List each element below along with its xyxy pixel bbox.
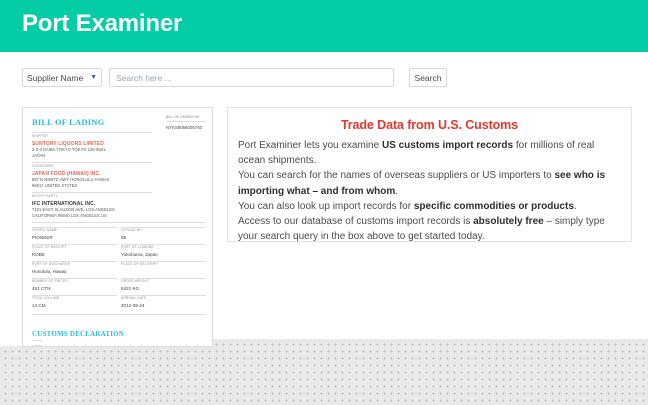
search-input-placeholder: Search here ...: [116, 73, 172, 83]
field-value-6: 491 CTN: [32, 286, 50, 291]
shipper-address: 2-3-3 DAIBA TOKYO TOKYO 135-8631, JAPAN: [32, 147, 107, 159]
field-label-0: VESSEL NAME: [32, 228, 57, 232]
divider: [32, 162, 152, 163]
bill-of-lading-card[interactable]: BILL OF LADING BILL OF LADING NO. NYKS80…: [22, 107, 213, 347]
divider: [32, 132, 152, 133]
divider: [32, 314, 206, 315]
field-label-7: GROSS WEIGHT: [121, 279, 149, 283]
bill-of-lading-title: BILL OF LADING: [32, 117, 104, 127]
divider: [32, 222, 206, 223]
search-bar: Supplier Name ▼ Search here ... Search: [22, 68, 447, 87]
bill-of-lading-no-value: NYKS80660057​60: [166, 125, 202, 130]
consignee-address: 887 N NIMITZ HWY HONOLULU HAWAII 96817 U…: [32, 177, 109, 189]
info-paragraph-4: Access to our database of customs import…: [238, 214, 621, 244]
field-value-9: 2012-09-24: [121, 303, 145, 308]
field-label-8: TOTAL VOLUME: [32, 296, 59, 300]
divider: [166, 121, 206, 122]
field-label-6: NUMBER OF PIECES: [32, 279, 68, 283]
info-panel-title: Trade Data from U.S. Customs: [238, 118, 621, 132]
notify-party-label: NOTIFY PARTY: [32, 194, 58, 198]
notify-party-address: 7101 EAST SLAUSON AVE, LOS ANGELES CALIF…: [32, 207, 115, 219]
field-value-4: Honolulu, Hawaii: [32, 269, 66, 274]
field-value-3: Yokohama, Japan: [121, 252, 158, 257]
field-value-1: 5E: [121, 235, 127, 240]
site-header: Port Examiner: [0, 0, 648, 52]
search-input[interactable]: Search here ...: [109, 68, 394, 87]
search-type-select[interactable]: Supplier Name ▼: [22, 68, 102, 87]
consignee-label: CONSIGNEE: [32, 164, 53, 168]
divider: [32, 345, 42, 346]
chevron-down-icon: ▼: [90, 74, 97, 81]
bill-of-lading-inner: BILL OF LADING BILL OF LADING NO. NYKS80…: [23, 108, 212, 346]
shipper-label: SHIPPER: [32, 134, 48, 138]
info-paragraph-1: Port Examiner lets you examine US custom…: [238, 138, 621, 168]
search-button[interactable]: Search: [409, 68, 447, 87]
info-panel: Trade Data from U.S. Customs Port Examin…: [227, 107, 632, 242]
field-label-2: PLACE OF RECEIPT: [32, 245, 66, 249]
page-root: Port Examiner Supplier Name ▼ Search her…: [0, 0, 648, 405]
field-label-9: ARRIVAL DATE: [121, 296, 146, 300]
field-value-8: 14 CM: [32, 303, 46, 308]
field-value-2: KOBE: [32, 252, 45, 257]
divider: [32, 192, 152, 193]
field-value-7: 6421 KG: [121, 286, 139, 291]
field-label-3: PORT OF LOADING: [121, 245, 154, 249]
field-label-5: PLACE OF DELIVERY: [121, 262, 158, 266]
customs-declaration-title: CUSTOMS DECLARATION: [32, 330, 124, 338]
info-paragraph-2: You can search for the names of overseas…: [238, 168, 621, 198]
field-label-1: VOYAGE NO.: [121, 228, 143, 232]
bill-of-lading-no-label: BILL OF LADING NO.: [166, 115, 201, 119]
info-paragraph-3: You can also look up import records for …: [238, 199, 621, 214]
page-dotted-background-right: [29, 339, 648, 405]
search-type-value: Supplier Name: [27, 73, 83, 83]
divider: [32, 340, 42, 341]
field-label-4: PORT OF DISCHARGE: [32, 262, 70, 266]
page-title: Port Examiner: [22, 10, 182, 38]
field-value-0: PIONEER: [32, 235, 53, 240]
